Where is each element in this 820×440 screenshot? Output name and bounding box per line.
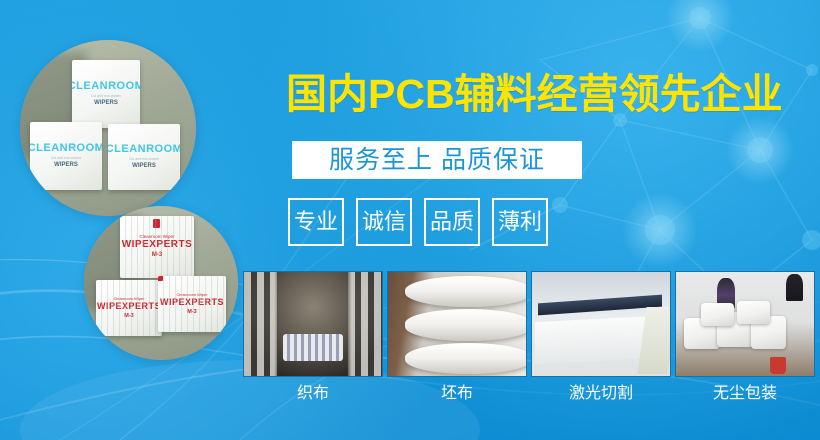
wipe-bale: Cleanroom Wiper WIPEXPERTS M-3 bbox=[96, 280, 162, 336]
bale-code: M-3 bbox=[152, 252, 162, 259]
thumbnail-caption: 织布 bbox=[297, 386, 329, 402]
fabric-roll bbox=[405, 309, 527, 340]
thumbnail-caption: 坯布 bbox=[441, 386, 473, 402]
process-thumbnail[interactable]: 无尘包装 bbox=[675, 271, 815, 402]
wipe-packet: CLEANROOM Cut and non-woven WIPERS bbox=[30, 122, 102, 190]
bale-brand: WIPEXPERTS bbox=[97, 302, 161, 311]
fabric-roll bbox=[405, 343, 527, 374]
red-tab-icon bbox=[153, 219, 160, 228]
bale-code: M-3 bbox=[124, 313, 133, 319]
cutting-bed bbox=[535, 316, 656, 364]
promo-banner: CLEANROOM Cut and non-woven WIPERS CLEAN… bbox=[0, 0, 820, 440]
process-thumbnail[interactable]: 坯布 bbox=[387, 271, 527, 402]
keyword-tag-row: 专业 诚信 品质 薄利 bbox=[288, 198, 548, 246]
bale-brand: WIPEXPERTS bbox=[122, 240, 193, 250]
slogan-bar: 服务至上 品质保证 bbox=[292, 141, 582, 179]
packet-subtitle: Cut and non-woven bbox=[129, 158, 159, 162]
packet-wipers-label: WIPERS bbox=[54, 162, 78, 169]
keyword-tag-label: 品质 bbox=[430, 211, 474, 233]
keyword-tag-label: 专业 bbox=[294, 211, 338, 233]
packet-brand: CLEANROOM bbox=[72, 81, 140, 92]
bale-brand: WIPEXPERTS bbox=[160, 298, 224, 307]
wipe-packet: CLEANROOM Cut and non-woven WIPERS bbox=[108, 124, 180, 190]
keyword-tag[interactable]: 品质 bbox=[424, 198, 480, 246]
wipe-bale: Cleanroom Wiper WIPEXPERTS M-3 bbox=[158, 276, 226, 332]
banner-headline: 国内PCB辅料经营领先企业 bbox=[286, 74, 783, 115]
process-thumbnail[interactable]: 激光切割 bbox=[531, 271, 671, 402]
packet-brand: CLEANROOM bbox=[30, 143, 102, 154]
packet-subtitle: Cut and non-woven bbox=[51, 157, 81, 161]
keyword-tag[interactable]: 诚信 bbox=[356, 198, 412, 246]
packet-wipers-label: WIPERS bbox=[94, 100, 118, 107]
thumbnail-image-greige-fabric[interactable] bbox=[387, 271, 527, 377]
product-photo-wipexperts: Cleanroom Wiper WIPEXPERTS M-3 Cleanroom… bbox=[84, 206, 238, 360]
thumbnail-image-laser-cutting[interactable] bbox=[531, 271, 671, 377]
fabric-roll bbox=[405, 276, 527, 307]
packet-brand: CLEANROOM bbox=[108, 144, 180, 155]
keyword-tag-label: 薄利 bbox=[498, 211, 542, 233]
packed-bale bbox=[701, 303, 734, 326]
packet-wipers-label: WIPERS bbox=[132, 163, 156, 170]
process-thumbnail[interactable]: 织布 bbox=[243, 271, 383, 402]
process-thumbnail-row: 织布 坯布 激光切割 bbox=[243, 271, 815, 402]
product-photo-cleanroom: CLEANROOM Cut and non-woven WIPERS CLEAN… bbox=[20, 40, 196, 216]
worker-figure bbox=[786, 274, 803, 301]
packed-bale bbox=[737, 301, 770, 324]
red-tab-icon bbox=[158, 276, 163, 281]
keyword-tag[interactable]: 专业 bbox=[288, 198, 344, 246]
keyword-tag[interactable]: 薄利 bbox=[492, 198, 548, 246]
bale-code: M-3 bbox=[187, 309, 196, 315]
thumbnail-caption: 激光切割 bbox=[569, 386, 633, 402]
red-bin bbox=[770, 357, 787, 374]
keyword-tag-label: 诚信 bbox=[362, 211, 406, 233]
thumbnail-image-cleanroom-packing[interactable] bbox=[675, 271, 815, 377]
wipe-packet: CLEANROOM Cut and non-woven WIPERS bbox=[72, 60, 140, 128]
wipe-bale: Cleanroom Wiper WIPEXPERTS M-3 bbox=[120, 216, 194, 278]
packet-subtitle: Cut and non-woven bbox=[91, 95, 121, 99]
slogan-text: 服务至上 品质保证 bbox=[329, 148, 545, 173]
laser-rail bbox=[538, 295, 662, 316]
thumbnail-image-weaving[interactable] bbox=[243, 271, 383, 377]
thumbnail-caption: 无尘包装 bbox=[713, 386, 777, 402]
